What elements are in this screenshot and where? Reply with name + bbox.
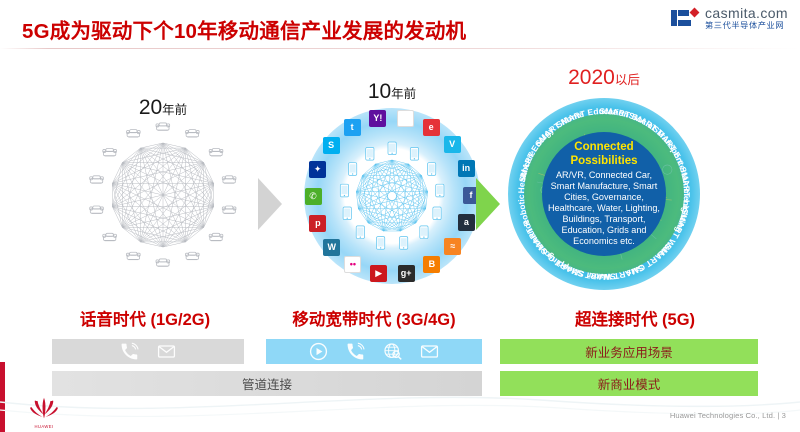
era-suffix: 年前 [162, 103, 187, 117]
vimeo-icon[interactable]: V [444, 136, 461, 153]
gray-phone-mesh-network [88, 120, 238, 270]
telephone-icon [127, 252, 141, 259]
arrow-gray-icon [258, 178, 282, 230]
casmita-brand-logo[interactable]: casmita.com 第三代半导体产业网 [671, 6, 788, 30]
blogger-icon[interactable]: B [423, 256, 440, 273]
phone-call-icon [120, 342, 139, 361]
yahoo-icon[interactable]: Y! [369, 110, 386, 127]
caption-voice-era: 话音时代 (1G/2G) [40, 306, 250, 330]
myspace-icon[interactable]: ✦ [309, 161, 326, 178]
telephone-icon [209, 149, 223, 156]
huawei-logo-icon [26, 396, 62, 424]
core-body-text: AR/VR, Connected Car, Smart Manufacture,… [546, 170, 662, 246]
skype-icon[interactable]: S [323, 137, 340, 154]
title-divider [0, 48, 800, 49]
era-number: 10 [368, 80, 391, 103]
smartphone-icon [410, 148, 418, 161]
new-business-scenarios-bar[interactable]: 新业务应用场景 [500, 339, 758, 364]
twitter-icon[interactable]: t [344, 119, 361, 136]
brand-name: casmita.com [705, 6, 788, 21]
phone-call-icon [346, 342, 365, 361]
amazon-icon[interactable]: a [458, 214, 475, 231]
new-business-scenarios-label: 新业务应用场景 [585, 342, 673, 361]
era-suffix: 年前 [391, 87, 416, 101]
casmita-c-logo-icon [671, 7, 699, 29]
smartphone-icon [366, 148, 374, 161]
telephone-icon [103, 233, 117, 240]
telephone-icon [156, 123, 170, 130]
smartphone-icon [428, 163, 436, 176]
telephone-icon [222, 176, 236, 183]
wordpress-icon[interactable]: W [323, 239, 340, 256]
smartphone-mesh [304, 108, 480, 284]
telephone-icon [156, 259, 170, 266]
wechat-icon[interactable]: ✆ [305, 188, 322, 205]
smartphone-icon [349, 163, 357, 176]
smartphone-icon [400, 237, 408, 250]
rss-icon[interactable]: ≈ [444, 238, 461, 255]
envelope-icon [420, 342, 439, 361]
telephone-icon [186, 252, 200, 259]
5g-connected-possibilities-globe: SMART HealthcareSMART EnergySMART HomeSM… [508, 98, 700, 290]
smartphone-icon [388, 142, 396, 155]
era-suffix: 以后 [615, 73, 640, 87]
linkedin-icon[interactable]: in [458, 160, 475, 177]
telephone-icon [127, 130, 141, 137]
voice-services-bar[interactable] [52, 339, 244, 364]
play-icon [309, 342, 328, 361]
mobile-broadband-services-bar[interactable] [266, 339, 482, 364]
smartphone-icon [420, 226, 428, 239]
envelope-icon [157, 342, 176, 361]
caption-5g-era: 超连接时代 (5G) [510, 306, 760, 330]
slide-canvas: 5G成为驱动下个10年移动通信产业发展的发动机 casmita.com 第三代半… [0, 0, 800, 432]
flickr-icon[interactable]: •• [344, 256, 361, 273]
brand-subtitle: 第三代半导体产业网 [705, 22, 788, 31]
globe-search-icon [383, 342, 402, 361]
smartphone-icon [356, 226, 364, 239]
telephone-icon [90, 206, 104, 213]
footer-separator: | [777, 411, 779, 420]
telephone-icon [90, 176, 104, 183]
footer-company: Huawei Technologies Co., Ltd. [670, 411, 775, 420]
social-network-ring: Y!eVinfa≈Bg+▶••Wp✆✦St [304, 108, 480, 284]
red-diamond-icon [690, 8, 700, 18]
arrow-green-icon [476, 178, 500, 230]
era-number: 20 [139, 96, 162, 119]
telephone-icon [103, 149, 117, 156]
globe-core-text: Connected Possibilities AR/VR, Connected… [542, 132, 666, 256]
page-title: 5G成为驱动下个10年移动通信产业发展的发动机 [22, 14, 466, 44]
era-label-10-years-ago: 10年前 [304, 80, 480, 104]
footer-page-number: 3 [782, 411, 786, 420]
telephone-icon [222, 206, 236, 213]
core-title-line1: Connected [574, 141, 633, 153]
telephone-icon [186, 130, 200, 137]
era-number: 2020 [568, 66, 615, 89]
ebay-icon[interactable]: e [423, 119, 440, 136]
caption-broadband-era: 移动宽带时代 (3G/4G) [258, 306, 490, 330]
telephone-icon [209, 233, 223, 240]
core-title-line2: Possibilities [570, 155, 637, 167]
smartphone-icon [377, 237, 385, 250]
era-label-2020-onwards: 2020以后 [508, 66, 700, 90]
smartphone-icon [436, 184, 444, 197]
huawei-wordmark: HUAWEI [26, 424, 62, 429]
smartphone-icon [433, 207, 441, 220]
smartphone-icon [343, 207, 351, 220]
footer-company-and-page: Huawei Technologies Co., Ltd. | 3 [670, 411, 786, 420]
delicious-icon[interactable] [397, 110, 414, 127]
googleplus-icon[interactable]: g+ [398, 265, 415, 282]
youtube-icon[interactable]: ▶ [370, 265, 387, 282]
pinterest-icon[interactable]: p [309, 215, 326, 232]
smartphone-icon [340, 184, 348, 197]
era-label-20-years-ago: 20年前 [88, 96, 238, 120]
